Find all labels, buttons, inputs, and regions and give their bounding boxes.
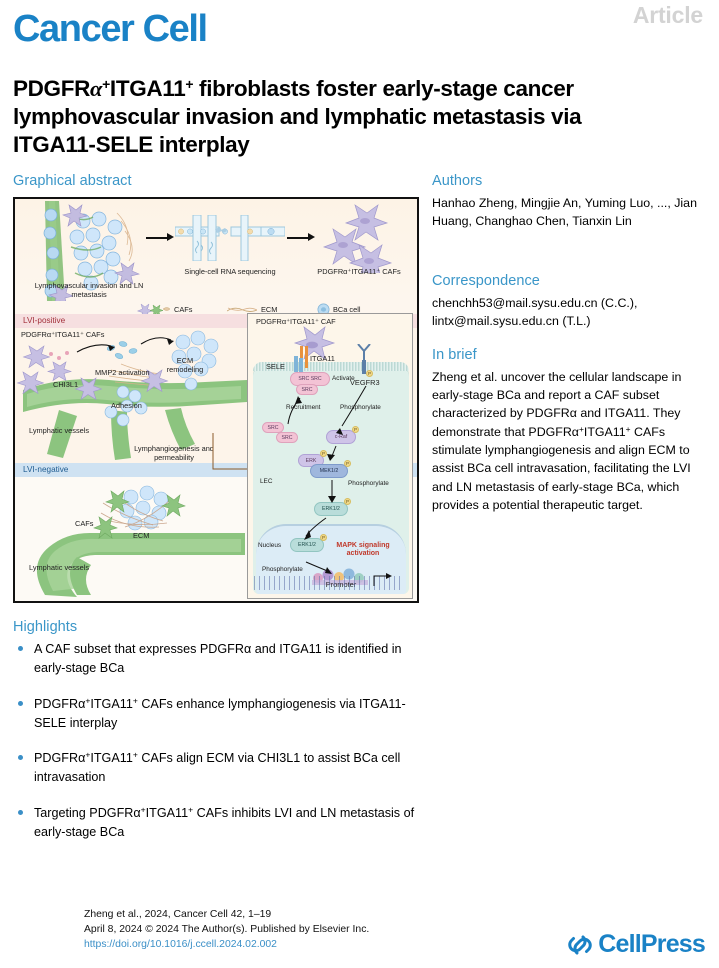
graphical-abstract-figure: Lymphovascular invasion and LN metastasi… — [13, 197, 419, 603]
label-itga11: ITGA11 — [310, 354, 344, 363]
label-lec: LEC — [260, 478, 272, 485]
highlight-text: PDGFRα+ITGA11+ CAFs enhance lymphangioge… — [34, 697, 406, 730]
bullet-icon — [18, 646, 23, 651]
node-src-bound: SRC — [296, 384, 318, 395]
transcription-arrow — [372, 572, 394, 588]
graphical-abstract-heading: Graphical abstract — [13, 173, 132, 189]
in-brief-text: Zheng et al. uncover the cellular landsc… — [432, 368, 710, 514]
highlight-text: PDGFRα+ITGA11+ CAFs align ECM via CHI3L1… — [34, 751, 400, 784]
article-type-label: Article — [633, 2, 703, 29]
highlight-mid: ITGA11 — [146, 806, 188, 820]
highlight-pre: Targeting PDGFRα — [34, 806, 141, 820]
bullet-icon — [18, 810, 23, 815]
lvi-negative-vessel-illustration — [15, 477, 247, 601]
phospho-tag-erk: P — [320, 450, 327, 457]
in-brief-heading: In brief — [432, 347, 710, 363]
highlight-pre: PDGFRα — [34, 751, 85, 765]
workflow-arrow-1-head — [167, 233, 174, 241]
citation-line-2: April 8, 2024 © 2024 The Author(s). Publ… — [84, 923, 369, 938]
label-pdgfra-itga11-cafs-lvi: PDGFRα⁺ITGA11⁺ CAFs — [21, 330, 126, 339]
highlight-pre: A CAF subset that expresses PDGFRα and I… — [34, 642, 402, 675]
list-item: Targeting PDGFRα+ITGA11+ CAFs inhibits L… — [13, 804, 433, 842]
correspondence-heading: Correspondence — [432, 273, 710, 289]
node-c-raf: c-Raf — [326, 430, 356, 444]
label-chi3l1: CHI3L1 — [53, 380, 93, 389]
label-lymphovascular-invasion: Lymphovascular invasion and LN metastasi… — [29, 281, 149, 300]
label-mapk-signaling: MAPK signaling activation — [330, 542, 396, 558]
node-mek12: MEK1/2 — [310, 464, 348, 478]
list-item: PDGFRα+ITGA11+ CAFs align ECM via CHI3L1… — [13, 749, 433, 787]
caf-cells-illustration — [315, 203, 410, 273]
label-recruitment: Recruitment — [286, 404, 320, 411]
journal-logo: Cancer Cell — [13, 10, 207, 48]
highlight-text: A CAF subset that expresses PDGFRα and I… — [34, 642, 402, 675]
legend-caf-label: CAFs — [174, 305, 204, 314]
bullet-icon — [18, 755, 23, 760]
figure-top-workflow: Lymphovascular invasion and LN metastasi… — [15, 199, 417, 302]
label-sele: SELE — [266, 362, 294, 371]
label-lymphatic-vessels-neg: Lymphatic vessels — [29, 563, 97, 572]
title-superscript-1: + — [102, 76, 110, 92]
phospho-tag-craf: P — [352, 426, 359, 433]
label-phosphorylate-2: Phosphorylate — [348, 480, 389, 487]
label-lymphatic-vessels-pos: Lymphatic vessels — [29, 426, 95, 435]
correspondence-emails: chenchh53@mail.sysu.edu.cn (C.C.), lintx… — [432, 294, 710, 330]
pathway-caf-title: PDGFRα⁺ITGA11⁺ CAF — [256, 317, 366, 326]
title-superscript-2: + — [185, 76, 193, 92]
highlight-mid: ITGA11 — [90, 697, 132, 711]
node-erk12-cytoplasm: ERK1/2 — [314, 502, 348, 516]
label-adhesion: Adhesion — [111, 401, 155, 410]
highlight-mid: ITGA11 — [90, 751, 132, 765]
workflow-arrow-1-line — [146, 237, 168, 239]
highlights-list: A CAF subset that expresses PDGFRα and I… — [13, 640, 433, 858]
highlight-text: Targeting PDGFRα+ITGA11+ CAFs inhibits L… — [34, 806, 414, 839]
phospho-tag-mek: P — [344, 460, 351, 467]
label-activate: Activate — [332, 375, 355, 382]
label-ecm-remodeling: ECM remodeling — [161, 356, 209, 375]
correspondence-section: Correspondence chenchh53@mail.sysu.edu.c… — [432, 273, 710, 330]
authors-heading: Authors — [432, 173, 710, 189]
label-pdgfra-itga11-cafs: PDGFRα⁺ITGA11⁺ CAFs — [303, 267, 415, 276]
title-segment-itga11: ITGA11 — [110, 76, 185, 101]
node-erk12-nucleus: ERK1/2 — [290, 538, 324, 552]
label-mmp2-activation: MMP2 activation — [95, 368, 165, 377]
title-segment-pdgfr: PDGFR — [13, 76, 90, 101]
bullet-icon — [18, 701, 23, 706]
citation-line-1: Zheng et al., 2024, Cancer Cell 42, 1–19 — [84, 908, 369, 923]
authors-list: Hanhao Zheng, Mingjie An, Yuming Luo, ..… — [432, 194, 710, 230]
cellpress-logo: CellPress — [567, 930, 705, 959]
label-cafs-negative: CAFs — [75, 519, 105, 528]
label-phosphorylate-3: Phosphorylate — [262, 566, 303, 573]
highlights-heading: Highlights — [13, 619, 77, 635]
title-alpha-symbol: α — [90, 76, 102, 101]
signaling-pathway-panel: PDGFRα⁺ITGA11⁺ CAF ITGA11 SELE VEGFR3 — [247, 313, 413, 599]
label-lymphangiogenesis: Lymphangiogenesis and permeability — [133, 444, 215, 463]
page-title: PDGFRα+ITGA11+ fibroblasts foster early-… — [13, 75, 653, 159]
single-cell-sequencing-illustration — [175, 215, 285, 261]
in-brief-section: In brief Zheng et al. uncover the cellul… — [432, 347, 710, 514]
cellpress-wordmark: CellPress — [598, 930, 705, 959]
citation-block: Zheng et al., 2024, Cancer Cell 42, 1–19… — [84, 908, 369, 952]
workflow-arrow-2-head — [308, 233, 315, 241]
list-item: PDGFRα+ITGA11+ CAFs enhance lymphangioge… — [13, 695, 433, 733]
authors-section: Authors Hanhao Zheng, Mingjie An, Yuming… — [432, 173, 710, 230]
in-brief-mid: ITGA11 — [584, 425, 626, 439]
doi-link[interactable]: https://doi.org/10.1016/j.ccell.2024.02.… — [84, 939, 277, 950]
article-cover-page: Article Cancer Cell PDGFRα+ITGA11+ fibro… — [0, 0, 719, 968]
label-ecm-negative: ECM — [133, 531, 161, 540]
phospho-tag-erk12-cyto: P — [344, 498, 351, 505]
label-single-cell-rna-seq: Single-cell RNA sequencing — [167, 267, 293, 276]
node-src-free-2: SRC — [276, 432, 298, 443]
label-vegfr3: VEGFR3 — [350, 378, 390, 387]
label-nucleus: Nucleus — [258, 542, 281, 549]
label-phosphorylate-1: Phosphorylate — [340, 404, 381, 411]
phospho-tag-vegfr3: P — [366, 370, 373, 377]
list-item: A CAF subset that expresses PDGFRα and I… — [13, 640, 433, 678]
phospho-tag-erk12-nuc: P — [320, 534, 327, 541]
cellpress-chain-icon — [567, 932, 593, 958]
workflow-arrow-2-line — [287, 237, 309, 239]
highlight-pre: PDGFRα — [34, 697, 85, 711]
